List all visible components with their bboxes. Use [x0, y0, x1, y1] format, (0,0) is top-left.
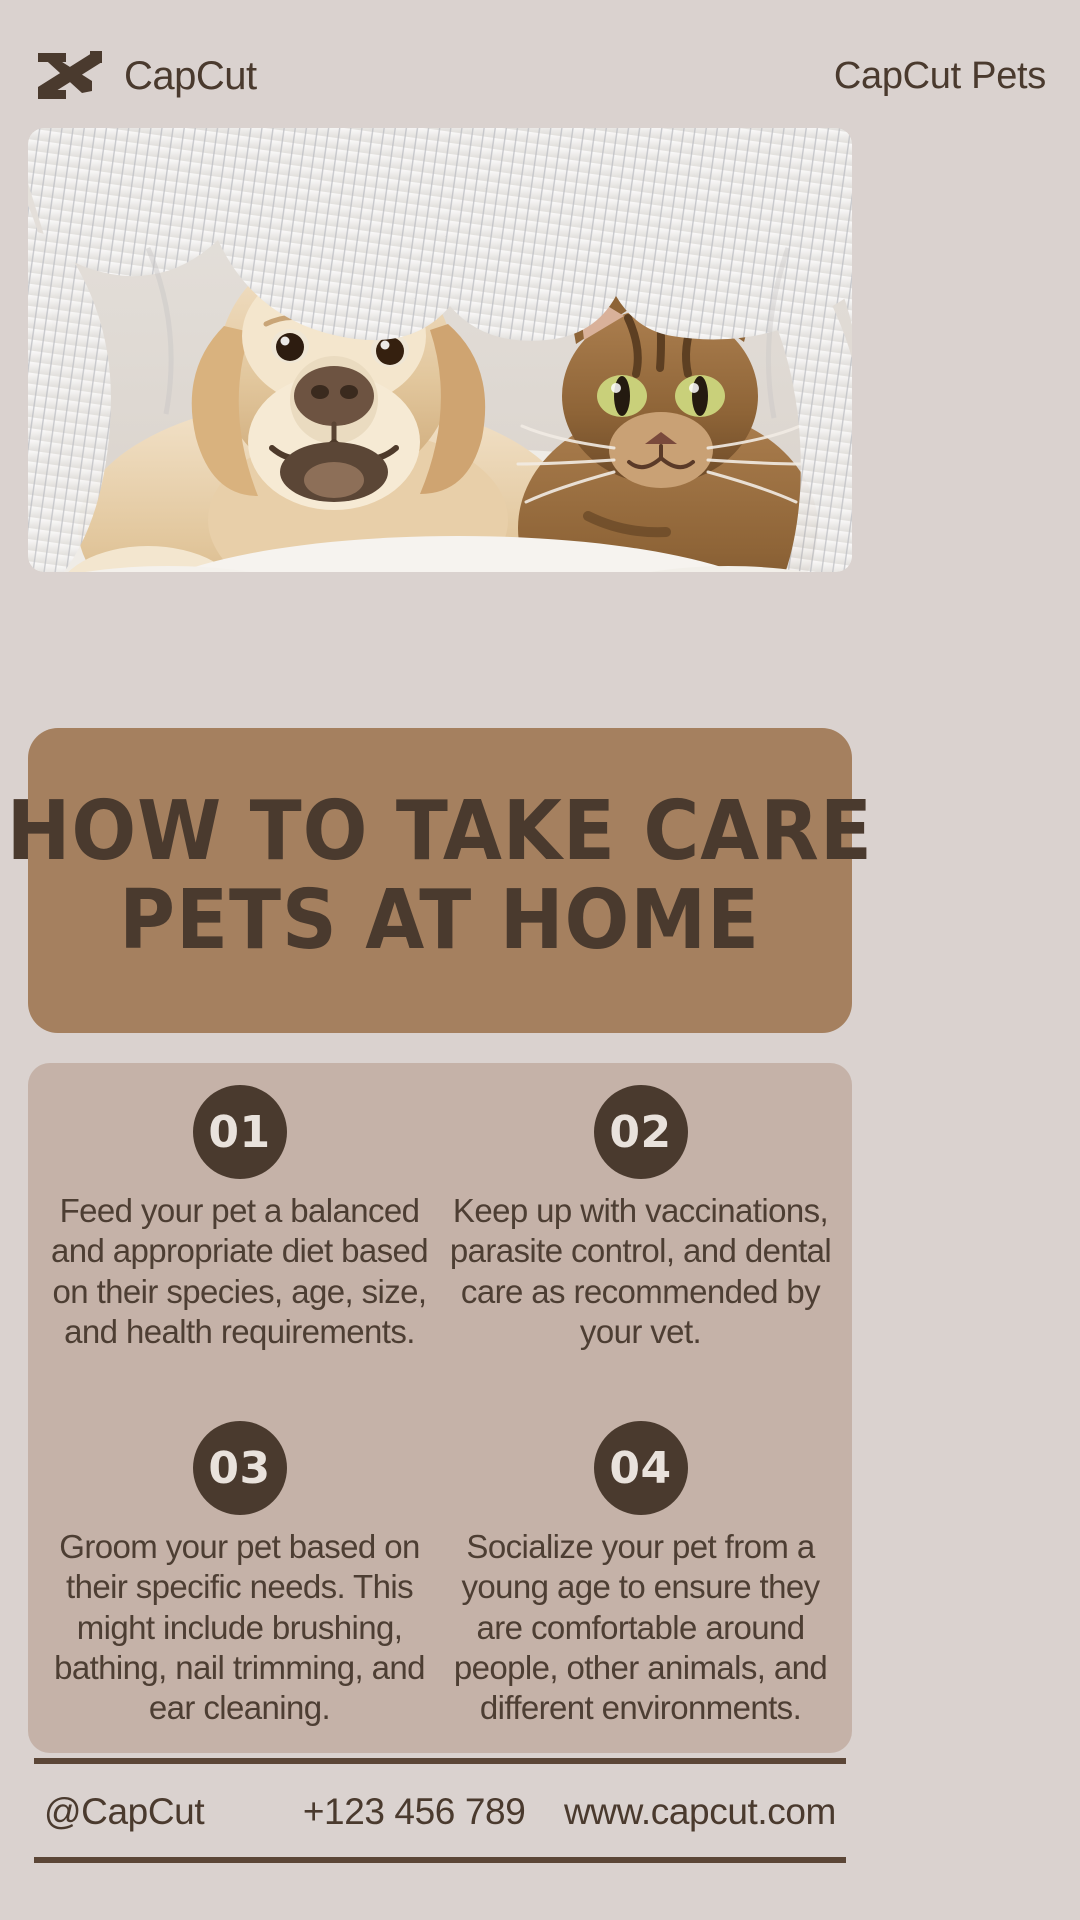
footer-divider-top — [34, 1758, 846, 1764]
page-header: CapCut CapCut Pets — [34, 42, 1046, 110]
tips-panel: 01 Feed your pet a balanced and appropri… — [28, 1063, 852, 1753]
tip-number-badge: 02 — [594, 1085, 688, 1179]
tip-item-03: 03 Groom your pet based on their specifi… — [44, 1421, 435, 1743]
hero-image — [28, 128, 852, 572]
tip-description: Feed your pet a balanced and appropriate… — [45, 1191, 435, 1352]
tip-number-badge: 03 — [193, 1421, 287, 1515]
tip-item-02: 02 Keep up with vaccinations, parasite c… — [445, 1085, 836, 1407]
tip-item-01: 01 Feed your pet a balanced and appropri… — [44, 1085, 435, 1407]
footer-social-handle[interactable]: @CapCut — [44, 1791, 204, 1833]
title-line-1: HOW TO TAKE CARE — [7, 788, 873, 877]
tip-description: Groom your pet based on their specific n… — [45, 1527, 435, 1728]
footer-phone[interactable]: +123 456 789 — [303, 1791, 526, 1833]
title-banner: HOW TO TAKE CARE PETS AT HOME — [28, 728, 852, 1033]
title-line-2: PETS AT HOME — [120, 877, 761, 966]
footer-divider-bottom — [34, 1857, 846, 1863]
tip-item-04: 04 Socialize your pet from a young age t… — [445, 1421, 836, 1743]
footer-website[interactable]: www.capcut.com — [564, 1791, 836, 1833]
tip-description: Socialize your pet from a young age to e… — [446, 1527, 836, 1728]
tip-number-badge: 01 — [193, 1085, 287, 1179]
page-footer: @CapCut +123 456 789 www.capcut.com — [44, 1780, 844, 1844]
header-right-label: CapCut Pets — [834, 57, 1046, 95]
brand-name: CapCut — [124, 56, 257, 96]
tip-number-badge: 04 — [594, 1421, 688, 1515]
capcut-logo-icon — [34, 45, 106, 107]
brand-block: CapCut — [34, 45, 257, 107]
tip-description: Keep up with vaccinations, parasite cont… — [446, 1191, 836, 1352]
